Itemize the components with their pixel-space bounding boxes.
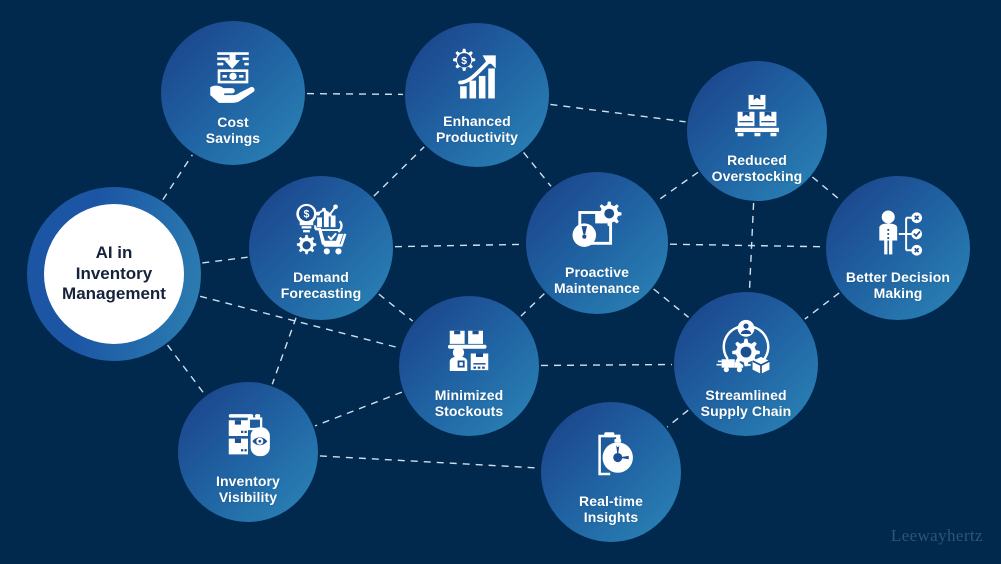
connector-enhanced-productivity-to-reduced-overstocking [550, 104, 685, 121]
clipboard-stopwatch-icon [584, 428, 638, 482]
connector-demand-forecasting-to-minimized-stockouts [379, 294, 413, 321]
connector-demand-forecasting-to-inventory-visibility [272, 318, 296, 385]
connector-reduced-overstocking-to-proactive-maintenance [657, 172, 698, 201]
node-reduced-overstocking[interactable]: Reduced Overstocking [687, 61, 827, 201]
node-label-demand-forecasting: Demand Forecasting [281, 270, 361, 302]
hub-label: AI in Inventory Management [62, 243, 166, 305]
node-cost-savings[interactable]: Cost Savings [161, 21, 305, 165]
node-proactive-maintenance[interactable]: Proactive Maintenance [526, 172, 668, 314]
warehouse-shelf-worker-icon [441, 322, 497, 378]
stacked-boxes-pallet-icon [730, 89, 784, 143]
svg-text:$: $ [461, 56, 467, 67]
connector-reduced-overstocking-to-streamlined-supply-chain [749, 203, 753, 290]
connector-demand-forecasting-to-enhanced-productivity [374, 147, 424, 196]
connector-proactive-maintenance-to-minimized-stockouts [521, 294, 544, 317]
supply-chain-cycle-icon [716, 318, 776, 378]
node-better-decision-making[interactable]: Better Decision Making [826, 176, 970, 320]
connector-minimized-stockouts-to-streamlined-supply-chain [541, 365, 672, 366]
hand-holding-money-down-arrow-icon [205, 47, 261, 103]
connector-reduced-overstocking-to-better-decision-making [812, 177, 841, 201]
connector-minimized-stockouts-to-inventory-visibility [315, 392, 402, 426]
connector-hub-to-cost-savings [163, 155, 192, 200]
node-demand-forecasting[interactable]: $ Demand Forecasting [249, 176, 393, 320]
connector-demand-forecasting-to-proactive-maintenance [395, 244, 524, 246]
node-label-enhanced-productivity: Enhanced Productivity [436, 114, 518, 146]
connector-streamlined-supply-chain-to-real-time-insights [667, 410, 688, 427]
connector-hub-to-inventory-visibility [168, 345, 205, 394]
node-label-proactive-maintenance: Proactive Maintenance [554, 265, 640, 297]
node-label-minimized-stockouts: Minimized Stockouts [435, 388, 504, 420]
connector-better-decision-making-to-streamlined-supply-chain [805, 293, 839, 319]
hub-node-ai-in-inventory-management[interactable]: AI in Inventory Management [27, 187, 201, 361]
box-gear-gauge-icon [568, 198, 626, 256]
node-minimized-stockouts[interactable]: Minimized Stockouts [399, 296, 539, 436]
node-streamlined-supply-chain[interactable]: Streamlined Supply Chain [674, 292, 818, 436]
connector-enhanced-productivity-to-proactive-maintenance [524, 152, 551, 186]
gear-dollar-growth-chart-icon: $ [447, 45, 507, 105]
node-label-streamlined-supply-chain: Streamlined Supply Chain [701, 388, 792, 420]
node-label-cost-savings: Cost Savings [206, 115, 260, 147]
person-decision-branch-icon [872, 208, 924, 260]
connector-proactive-maintenance-to-streamlined-supply-chain [654, 289, 689, 317]
svg-text:$: $ [304, 209, 310, 221]
connector-inventory-visibility-to-real-time-insights [320, 456, 539, 468]
node-label-real-time-insights: Real-time Insights [579, 494, 643, 526]
connector-proactive-maintenance-to-better-decision-making [670, 244, 824, 247]
diagram-canvas: AI in Inventory Management Cost Savings … [0, 0, 1001, 564]
hub-inner-circle: AI in Inventory Management [44, 204, 184, 344]
node-real-time-insights[interactable]: Real-time Insights [541, 402, 681, 542]
connector-cost-savings-to-enhanced-productivity [307, 94, 403, 95]
node-inventory-visibility[interactable]: Inventory Visibility [178, 382, 318, 522]
lightbulb-cart-chart-gear-icon: $ [290, 200, 352, 262]
connector-hub-to-demand-forecasting [202, 257, 247, 263]
node-label-inventory-visibility: Inventory Visibility [216, 474, 280, 506]
node-enhanced-productivity[interactable]: $ Enhanced Productivity [405, 23, 549, 167]
watermark: Leewayhertz [891, 526, 983, 546]
boxes-eye-icon [220, 408, 276, 464]
node-label-better-decision-making: Better Decision Making [846, 270, 950, 302]
node-label-reduced-overstocking: Reduced Overstocking [712, 153, 803, 185]
